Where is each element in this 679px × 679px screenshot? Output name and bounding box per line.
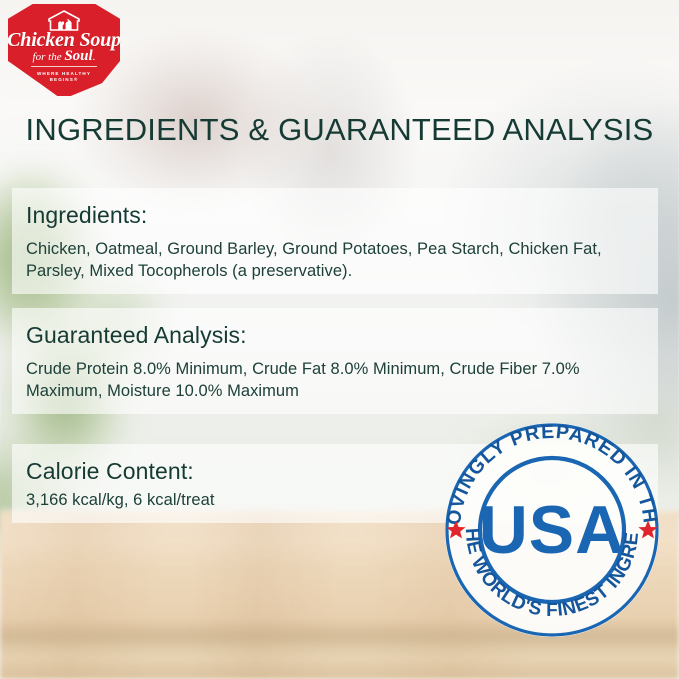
logo-wordmark-line1: Chicken Soup [7,30,121,50]
house-cat-dog-icon [44,10,84,31]
ingredients-text: Chicken, Oatmeal, Ground Barley, Ground … [26,238,644,282]
page-title: INGREDIENTS & GUARANTEED ANALYSIS [0,112,679,148]
product-info-graphic: Chicken Soup for the Soul. WHERE HEALTHY… [0,0,679,679]
guaranteed-analysis-panel: Guaranteed Analysis: Crude Protein 8.0% … [12,308,658,414]
ingredients-heading: Ingredients: [26,202,644,228]
logo-word-soul: Soul [64,48,92,64]
logo-tagline: WHERE HEALTHY BEGINS® [37,71,91,83]
guaranteed-analysis-heading: Guaranteed Analysis: [26,322,644,348]
ingredients-panel: Ingredients: Chicken, Oatmeal, Ground Ba… [12,188,658,294]
logo-divider [31,66,97,67]
guaranteed-analysis-text: Crude Protein 8.0% Minimum, Crude Fat 8.… [26,358,644,402]
seal-usa-text: USA [479,492,626,568]
brand-logo: Chicken Soup for the Soul. WHERE HEALTHY… [8,4,120,96]
logo-word-period: . [93,51,96,63]
made-in-usa-seal: LOVINGLY PREPARED IN THE WITH THE WORLD'… [438,416,666,612]
logo-wordmark-line2: for the Soul. [33,50,96,63]
logo-tagline-line2: BEGINS® [37,77,91,83]
logo-word-forthe: for the [33,51,62,63]
logo-content: Chicken Soup for the Soul. WHERE HEALTHY… [8,4,120,96]
background-bottom-shadow [0,653,679,679]
